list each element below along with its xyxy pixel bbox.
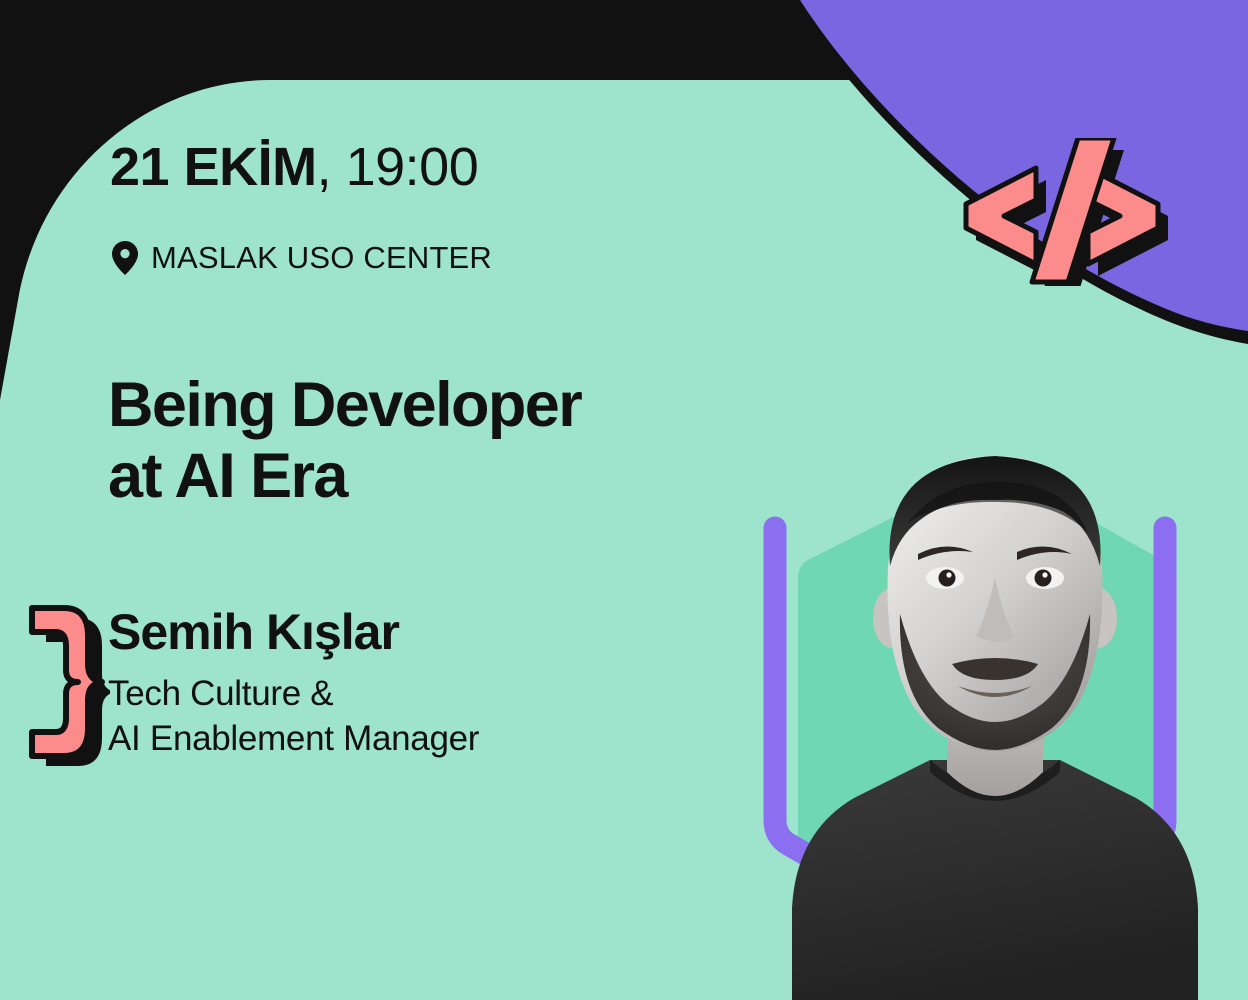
event-time: 19:00	[346, 137, 479, 197]
speaker-role-line-2: AI Enablement Manager	[108, 717, 748, 762]
speaker-block: Semih Kışlar Tech Culture & AI Enablemen…	[108, 605, 748, 762]
event-datetime-separator: ,	[317, 137, 346, 197]
location-pin-icon	[112, 241, 138, 275]
event-datetime: 21 EKİM, 19:00	[110, 140, 478, 194]
page-title: Being Developer at AI Era	[108, 370, 748, 512]
code-brackets-icon	[928, 138, 1196, 286]
curly-brace-icon	[18, 596, 110, 768]
speaker-name: Semih Kışlar	[108, 605, 748, 660]
event-venue: MASLAK USO CENTER	[112, 240, 492, 276]
speaker-role: Tech Culture & AI Enablement Manager	[108, 672, 748, 762]
headline-line-1: Being Developer	[108, 370, 748, 441]
code-icon-glyph	[966, 138, 1158, 282]
speaker-role-line-1: Tech Culture &	[108, 672, 748, 717]
poster-text-content: 21 EKİM, 19:00 MASLAK USO CENTER Being D…	[0, 0, 760, 1000]
event-poster: 21 EKİM, 19:00 MASLAK USO CENTER Being D…	[0, 0, 1248, 1000]
speaker-portrait-group	[742, 428, 1248, 1000]
venue-label: MASLAK USO CENTER	[151, 240, 492, 276]
headline-line-2: at AI Era	[108, 441, 748, 512]
event-date: 21 EKİM	[110, 137, 317, 197]
